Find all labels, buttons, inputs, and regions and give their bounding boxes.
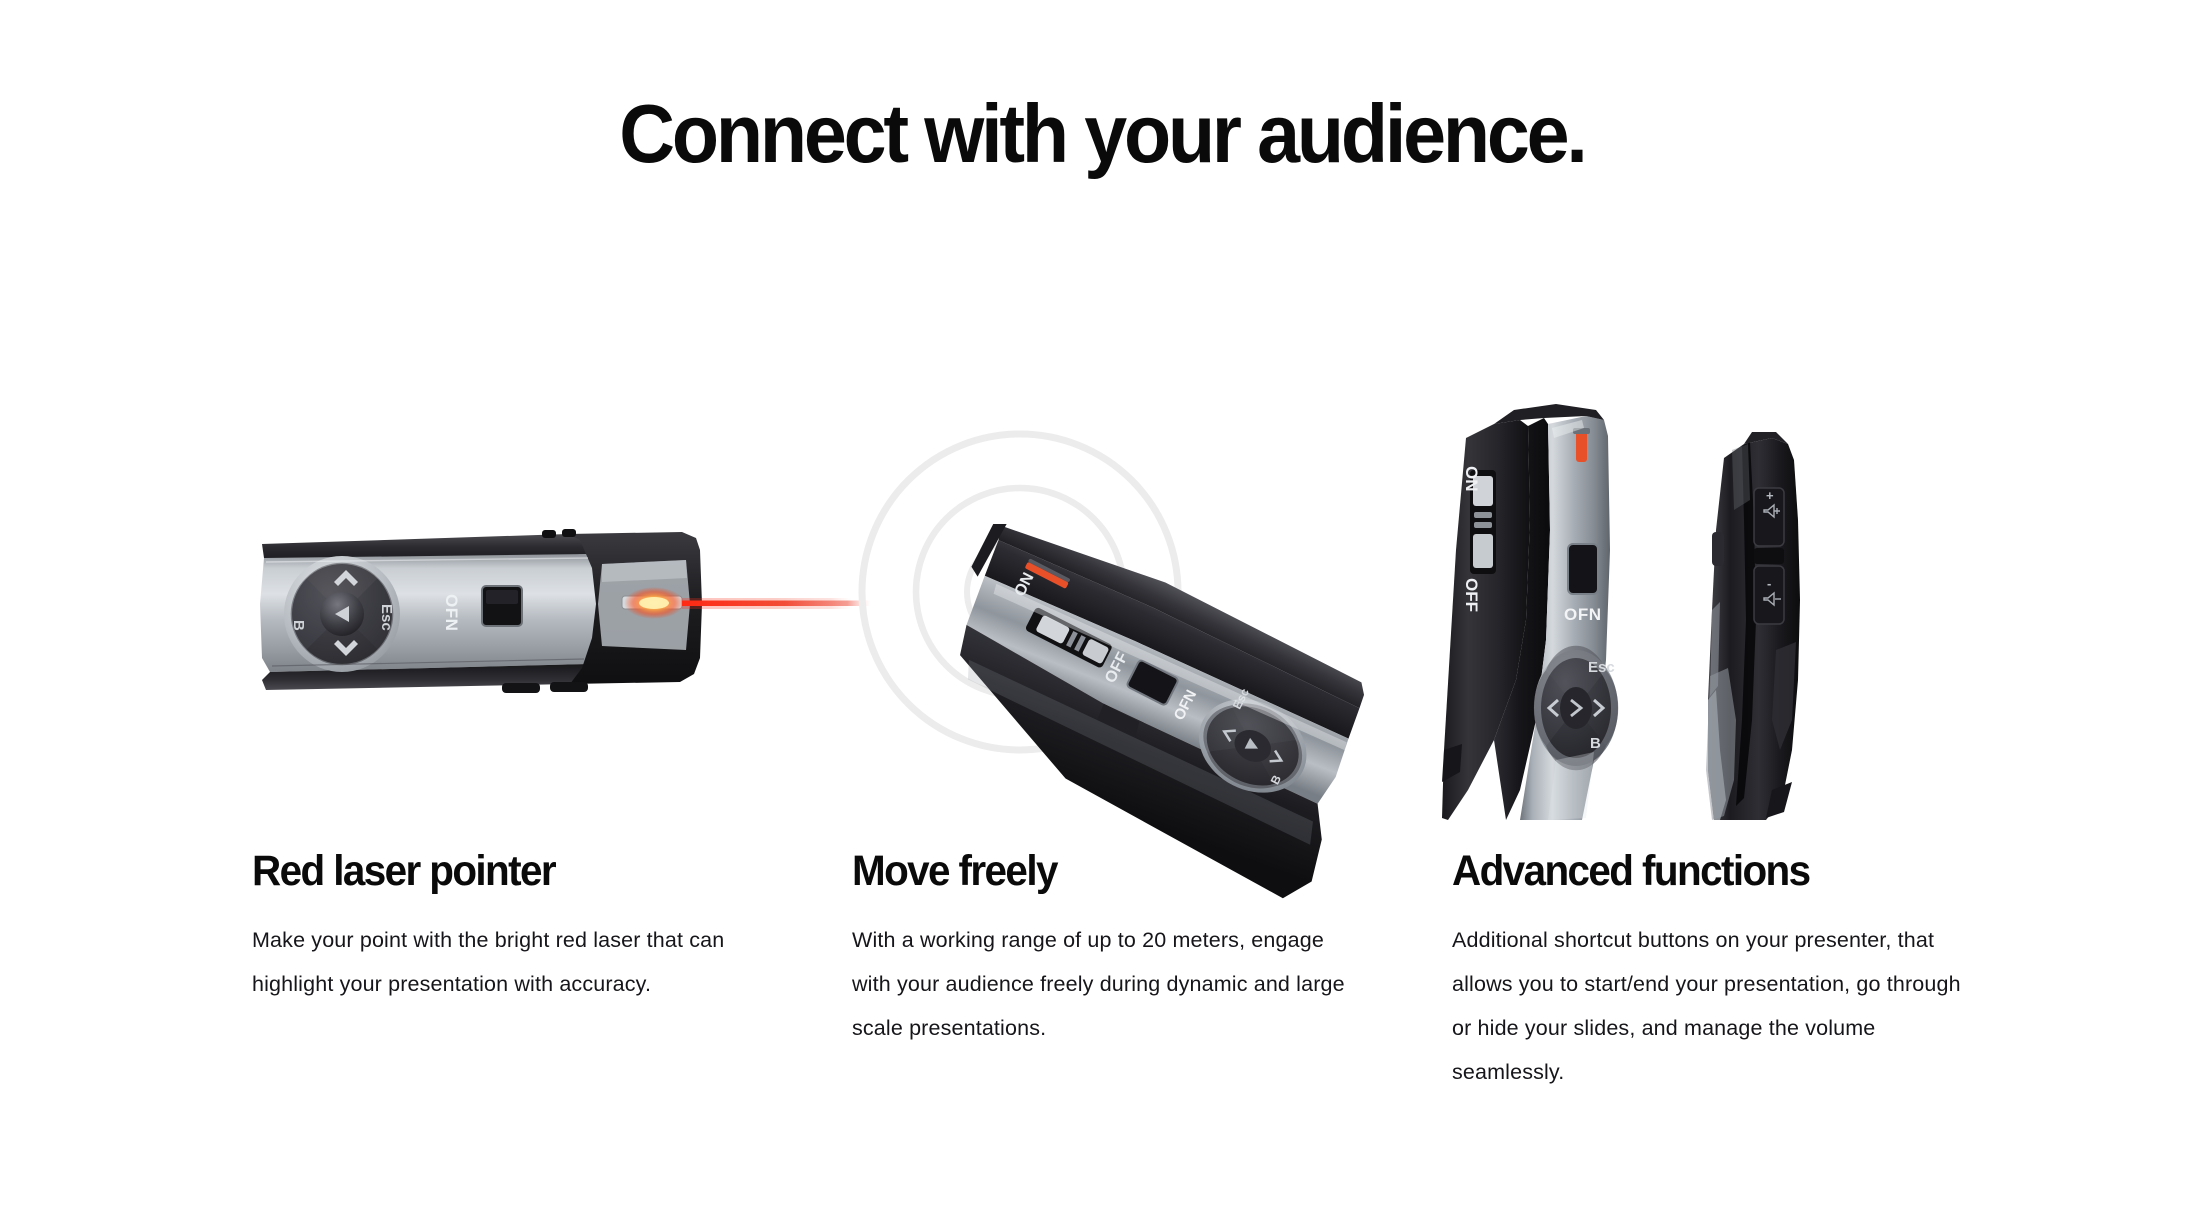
dpad-assembly: B Esc — [284, 556, 400, 672]
feature-image-red-laser-pointer: B Esc OFN — [252, 430, 852, 850]
dpad-center-button[interactable] — [1560, 687, 1592, 729]
laser-trigger-button — [1568, 544, 1598, 594]
feature-card-advanced-functions: ON OFF OFN — [1452, 430, 1992, 1170]
device-label-ofn: OFN — [1564, 605, 1602, 624]
feature-body-advanced-functions: Additional shortcut buttons on your pres… — [1452, 918, 1972, 1094]
presenter-device: ON OFF OFN — [902, 501, 1403, 907]
top-button-1 — [542, 530, 556, 538]
page-title: Connect with your audience. — [77, 92, 2127, 175]
volume-up-label: + — [1766, 488, 1774, 503]
volume-down-label: - — [1767, 576, 1771, 591]
laser-beam-halo — [682, 598, 852, 609]
presenter-side-view: + - — [1706, 432, 1800, 820]
bottom-button-1 — [502, 683, 540, 693]
laser-glow-core — [639, 597, 669, 609]
side-sheen — [1732, 444, 1750, 510]
dpad-label-b: B — [290, 620, 307, 631]
laser-trigger-highlight — [486, 590, 518, 604]
led-indicator — [1576, 430, 1587, 462]
side-small-button — [1712, 532, 1724, 566]
switch-label-off: OFF — [1462, 578, 1481, 612]
volume-rocker[interactable]: + - — [1754, 488, 1784, 624]
dpad-label-b: B — [1590, 735, 1601, 752]
feature-image-advanced-functions: ON OFF OFN — [1452, 430, 1992, 850]
top-button-2 — [562, 529, 576, 537]
feature-card-red-laser-pointer: B Esc OFN Red laser pointer Make y — [252, 430, 852, 1170]
feature-title-move-freely: Move freely — [852, 850, 1416, 893]
device-label-ofn: OFN — [442, 594, 461, 631]
feature-title-red-laser-pointer: Red laser pointer — [252, 850, 816, 893]
bottom-button-2 — [550, 682, 588, 692]
feature-title-advanced-functions: Advanced functions — [1452, 850, 1960, 893]
features-grid: B Esc OFN Red laser pointer Make y — [252, 430, 1992, 1170]
feature-card-move-freely: ON OFF OFN — [852, 430, 1452, 1170]
hero-section: Connect with your audience. — [0, 92, 2204, 175]
switch-label-on: ON — [1462, 466, 1481, 492]
presenter-front-view: ON OFF OFN — [1442, 404, 1618, 820]
feature-body-red-laser-pointer: Make your point with the bright red lase… — [252, 918, 752, 1006]
feature-image-move-freely: ON OFF OFN — [852, 430, 1452, 850]
feature-body-move-freely: With a working range of up to 20 meters,… — [852, 918, 1352, 1050]
page-root: Connect with your audience. — [0, 0, 2204, 1206]
dpad-label-esc: Esc — [1588, 659, 1615, 676]
dpad-label-esc: Esc — [378, 604, 395, 631]
